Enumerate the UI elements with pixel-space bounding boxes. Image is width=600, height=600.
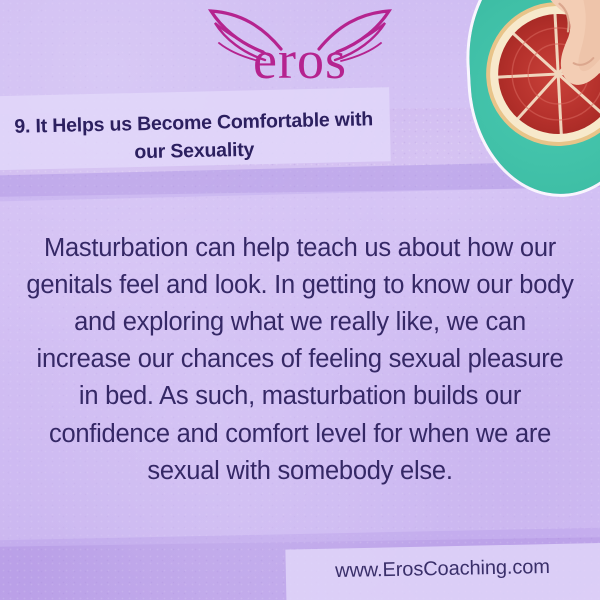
body-paragraph: Masturbation can help teach us about how… — [26, 230, 574, 491]
poster-canvas: eros 9. It Helps us Become Comfortable w… — [0, 0, 600, 600]
svg-text:eros: eros — [253, 30, 347, 89]
grapefruit-slice-with-fingers-icon — [464, 0, 600, 198]
headline-title: 9. It Helps us Become Comfortable with o… — [7, 106, 380, 169]
grapefruit-photo-card — [464, 0, 600, 198]
winged-eros-logo-icon: eros — [185, 5, 415, 89]
